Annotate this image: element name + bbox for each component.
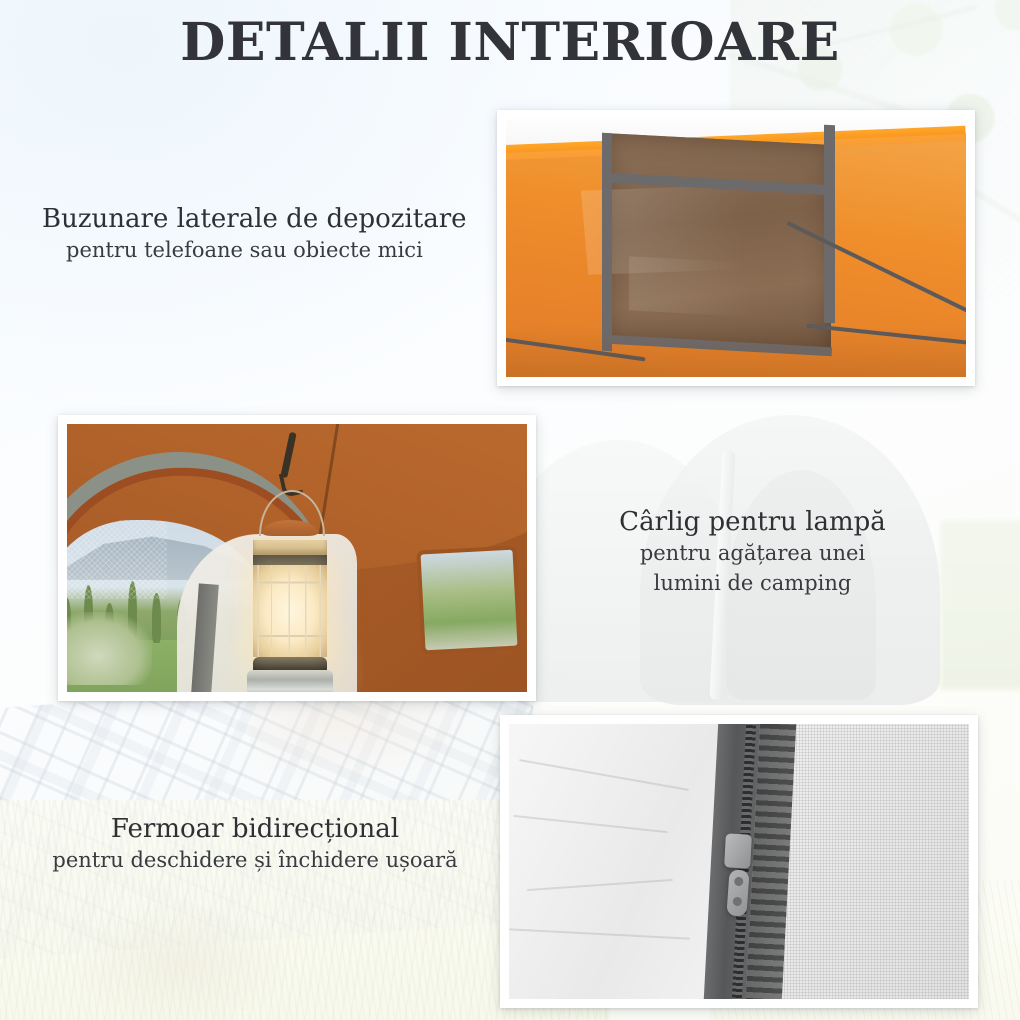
- photo-storage-pocket-image: [506, 119, 966, 377]
- caption-lamp-hook-heading: Cârlig pentru lampă: [545, 508, 960, 537]
- caption-lamp-hook-subtext-line1: pentru agățarea unei: [545, 541, 960, 567]
- infographic-page: DETALII INTERIOARE: [0, 0, 1020, 1020]
- caption-lamp-hook-subtext-line2: lumini de camping: [545, 571, 960, 597]
- caption-storage-pocket-subtext: pentru telefoane sau obiecte mici: [66, 238, 467, 264]
- zipper-pull-tab: [726, 869, 749, 916]
- caption-two-way-zipper-subtext: pentru deschidere și închidere ușoară: [20, 848, 490, 874]
- tent-fabric-panel: [509, 724, 730, 999]
- photo-lamp-hook: [58, 415, 536, 701]
- zipper-slider: [724, 833, 752, 868]
- photo-two-way-zipper: [500, 715, 978, 1008]
- caption-two-way-zipper-heading: Fermoar bidirecțional: [20, 815, 490, 844]
- caption-storage-pocket: Buzunare laterale de depozitare pentru t…: [42, 205, 467, 264]
- mesh-pocket-panel: [606, 133, 831, 355]
- camping-lantern: [253, 520, 327, 692]
- photo-two-way-zipper-image: [509, 724, 969, 999]
- photo-storage-pocket: [497, 110, 975, 386]
- caption-storage-pocket-heading: Buzunare laterale de depozitare: [42, 205, 467, 234]
- caption-lamp-hook: Cârlig pentru lampă pentru agățarea unei…: [545, 508, 960, 596]
- caption-two-way-zipper: Fermoar bidirecțional pentru deschidere …: [20, 815, 490, 874]
- background-dog-image: [70, 900, 290, 1020]
- tent-window-right: [421, 550, 518, 651]
- page-title: DETALII INTERIOARE: [0, 12, 1020, 73]
- photo-lamp-hook-image: [67, 424, 527, 692]
